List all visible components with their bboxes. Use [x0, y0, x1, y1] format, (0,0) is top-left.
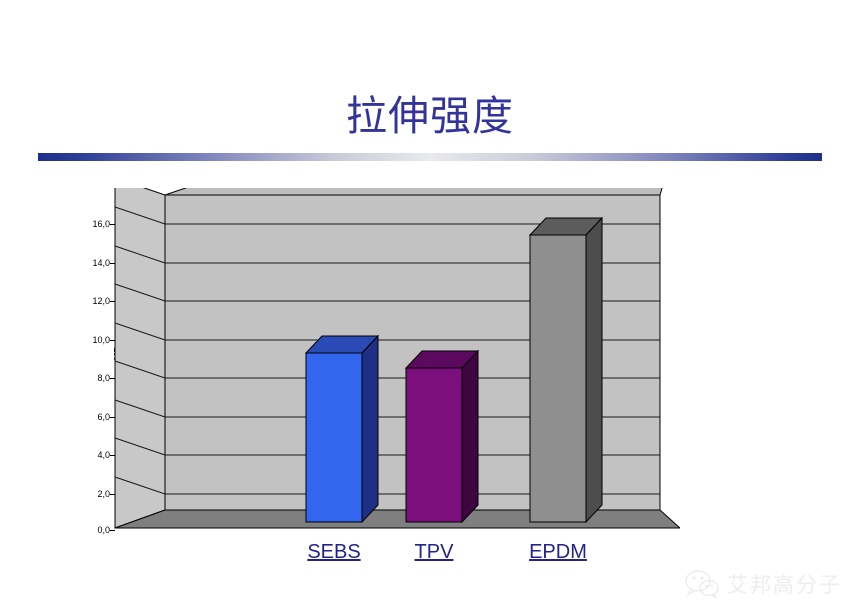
y-tick-label: 2,0 [66, 490, 110, 499]
plot-3d-box [110, 188, 680, 548]
bar-sebs-front [306, 353, 362, 522]
bar-epdm-front [530, 235, 586, 522]
page-title: 拉伸强度 [0, 90, 860, 142]
bar-epdm[interactable] [530, 218, 602, 522]
title-divider [38, 153, 822, 161]
watermark: 艾邦高分子 [685, 569, 842, 599]
category-label-sebs[interactable]: SEBS [286, 540, 382, 564]
y-tick-label: 8,0 [66, 374, 110, 383]
bar-tpv-front [406, 368, 462, 522]
bar-epdm-side [586, 218, 602, 522]
y-tick-label: 10,0 [66, 336, 110, 345]
y-tick-label: 6,0 [66, 413, 110, 422]
category-label-tpv[interactable]: TPV [386, 540, 482, 564]
category-label-epdm[interactable]: EPDM [510, 540, 606, 564]
y-tick-label: 14,0 [66, 259, 110, 268]
slide-canvas: 拉伸强度 16,0 14,0 12,0 10,0 8,0 6,0 4,0 2,0… [0, 0, 860, 609]
bar-sebs-side [362, 336, 378, 522]
y-tick-label: 4,0 [66, 451, 110, 460]
bar-tpv-side [462, 351, 478, 522]
wechat-icon [685, 569, 719, 599]
bar-tpv[interactable] [406, 351, 478, 522]
y-tick-label: 12,0 [66, 297, 110, 306]
plot-left-face [115, 188, 165, 528]
bar-chart: 16,0 14,0 12,0 10,0 8,0 6,0 4,0 2,0 0,0 … [110, 188, 680, 548]
y-tick-label: 0,0 [66, 526, 110, 535]
bar-sebs[interactable] [306, 336, 378, 522]
y-tick-label: 16,0 [66, 220, 110, 229]
y-axis-tick-labels: 16,0 14,0 12,0 10,0 8,0 6,0 4,0 2,0 0,0 [62, 188, 110, 548]
watermark-text: 艾邦高分子 [727, 569, 842, 599]
plot-top-face [165, 188, 665, 195]
